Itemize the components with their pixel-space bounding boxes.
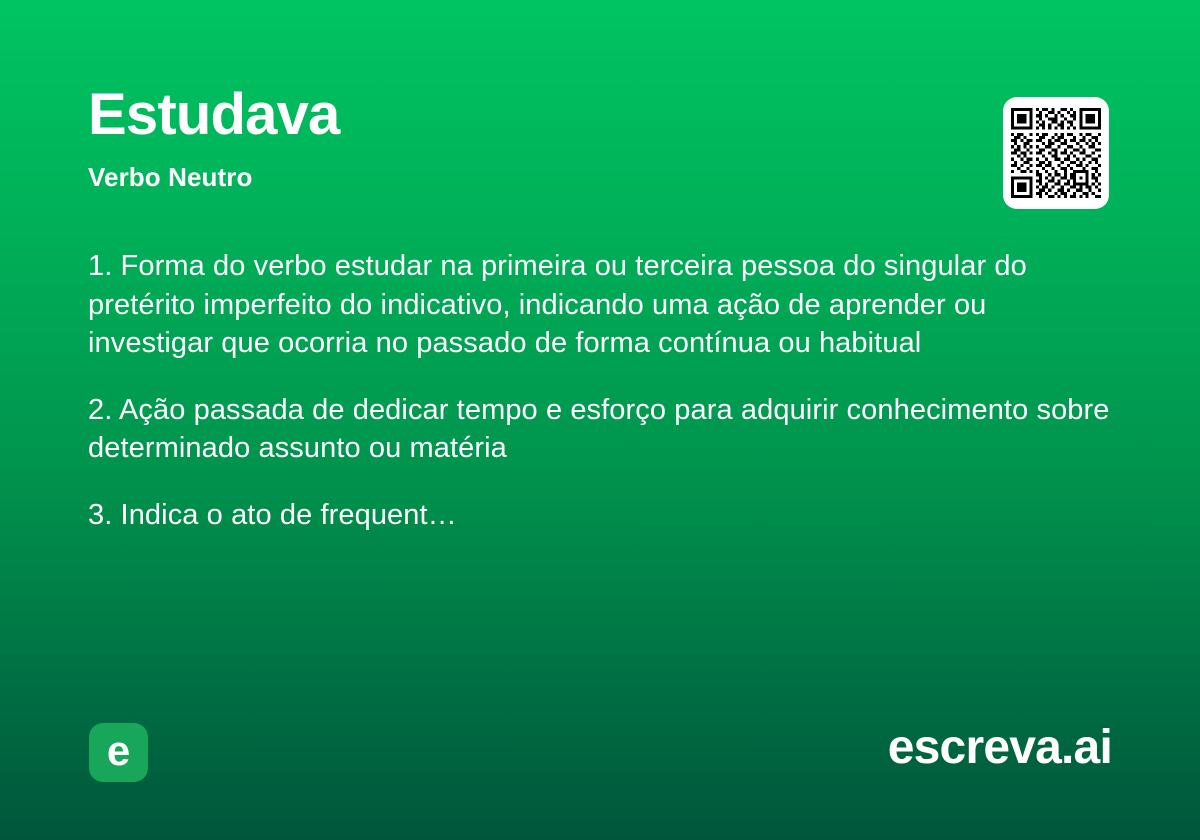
header-block: Estudava Verbo Neutro [88,86,788,190]
word-class-label: Verbo Neutro [88,164,788,190]
definition-item: 1. Forma do verbo estudar na primeira ou… [88,247,1110,363]
definition-item: 3. Indica o ato de frequent… [88,496,1110,535]
definition-item: 2. Ação passada de dedicar tempo e esfor… [88,391,1110,468]
brand-wordmark: escreva.ai [888,722,1112,775]
qr-code[interactable] [1003,97,1109,209]
brand-logo-letter: e [107,730,130,772]
page-title: Estudava [88,86,788,144]
brand-logo: e [89,723,148,782]
qr-code-icon [1011,108,1101,198]
dictionary-card: Estudava Verbo Neutro [0,0,1200,840]
definitions-list: 1. Forma do verbo estudar na primeira ou… [88,247,1110,534]
